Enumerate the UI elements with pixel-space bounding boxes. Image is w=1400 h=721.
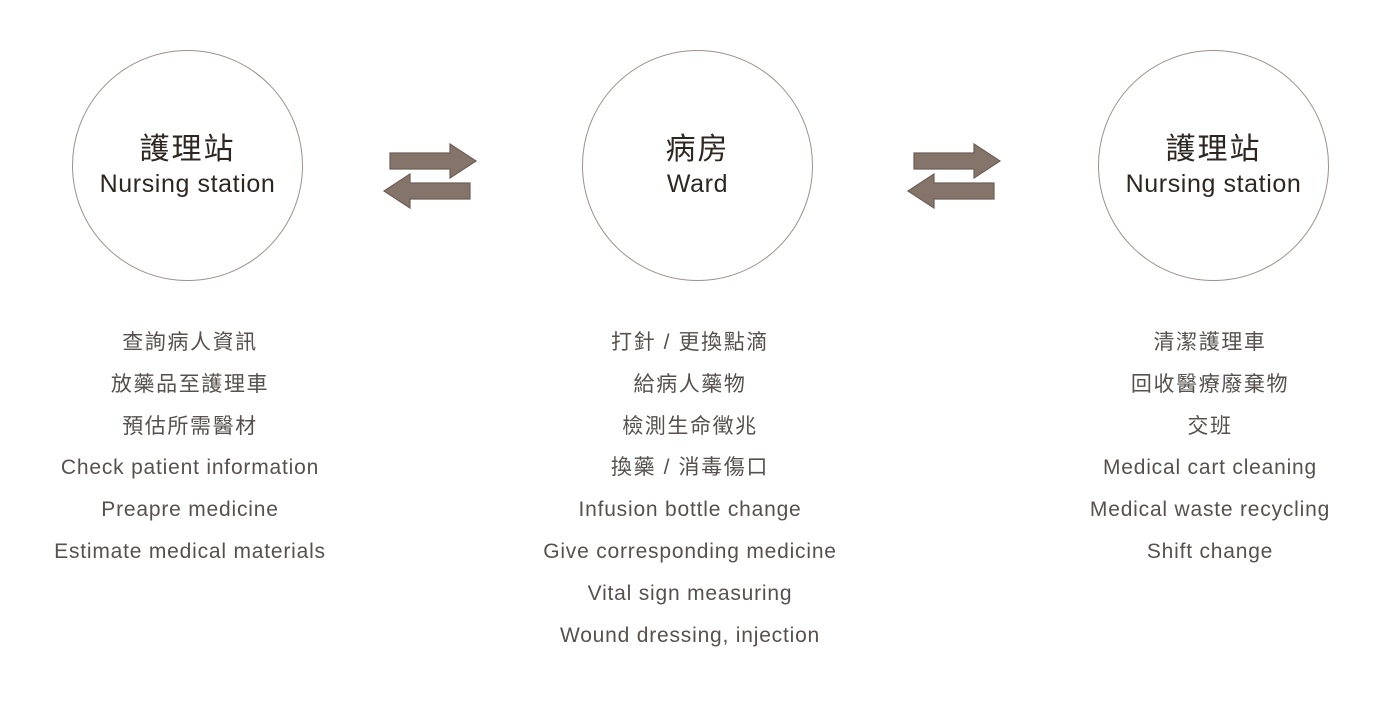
flow-column-nursing-station-start: 護理站 Nursing station 查詢病人資訊 放藥品至護理車 預估所需醫… <box>0 0 380 721</box>
node-title-en: Ward <box>667 171 728 197</box>
arrow-left-icon <box>384 174 470 208</box>
process-flow-diagram: 護理站 Nursing station 查詢病人資訊 放藥品至護理車 預估所需醫… <box>0 0 1400 721</box>
connector-ward-to-nursing-station-end <box>906 140 1002 212</box>
task-item: 打針 / 更換點滴 <box>500 322 880 364</box>
task-item: Infusion bottle change <box>500 489 880 531</box>
node-circle-nursing-station-end[interactable]: 護理站 Nursing station <box>1098 50 1329 281</box>
node-circle-ward[interactable]: 病房 Ward <box>582 50 813 281</box>
node-circle-nursing-station-start[interactable]: 護理站 Nursing station <box>72 50 303 281</box>
task-item: 查詢病人資訊 <box>0 322 380 364</box>
task-item: 清潔護理車 <box>1020 322 1400 364</box>
arrow-right-icon <box>390 144 476 178</box>
task-item: 交班 <box>1020 406 1400 448</box>
flow-column-nursing-station-end: 護理站 Nursing station 清潔護理車 回收醫療廢棄物 交班 Med… <box>1020 0 1400 721</box>
task-item: Check patient information <box>0 447 380 489</box>
task-item: Give corresponding medicine <box>500 531 880 573</box>
arrow-left-icon <box>908 174 994 208</box>
task-item: 換藥 / 消毒傷口 <box>500 447 880 489</box>
task-item: Medical waste recycling <box>1020 489 1400 531</box>
task-item: Shift change <box>1020 531 1400 573</box>
node-title-zh: 護理站 <box>1166 134 1262 166</box>
node-title-en: Nursing station <box>100 171 276 197</box>
task-item: 預估所需醫材 <box>0 406 380 448</box>
task-item: Preapre medicine <box>0 489 380 531</box>
task-item: 回收醫療廢棄物 <box>1020 364 1400 406</box>
node-title-zh: 病房 <box>666 134 730 166</box>
task-list-nursing-station-end: 清潔護理車 回收醫療廢棄物 交班 Medical cart cleaning M… <box>1020 322 1400 573</box>
bidirectional-arrows-icon <box>906 140 1002 212</box>
bidirectional-arrows-icon <box>382 140 478 212</box>
task-item: Wound dressing, injection <box>500 615 880 657</box>
task-item: 給病人藥物 <box>500 364 880 406</box>
node-title-zh: 護理站 <box>140 134 236 166</box>
arrow-right-icon <box>914 144 1000 178</box>
connector-nursing-station-start-to-ward <box>382 140 478 212</box>
task-item: Medical cart cleaning <box>1020 447 1400 489</box>
task-item: 檢測生命徵兆 <box>500 406 880 448</box>
task-list-ward: 打針 / 更換點滴 給病人藥物 檢測生命徵兆 換藥 / 消毒傷口 Infusio… <box>500 322 880 656</box>
flow-column-ward: 病房 Ward 打針 / 更換點滴 給病人藥物 檢測生命徵兆 換藥 / 消毒傷口… <box>500 0 880 721</box>
task-list-nursing-station-start: 查詢病人資訊 放藥品至護理車 預估所需醫材 Check patient info… <box>0 322 380 573</box>
task-item: Vital sign measuring <box>500 573 880 615</box>
task-item: Estimate medical materials <box>0 531 380 573</box>
task-item: 放藥品至護理車 <box>0 364 380 406</box>
node-title-en: Nursing station <box>1126 171 1302 197</box>
